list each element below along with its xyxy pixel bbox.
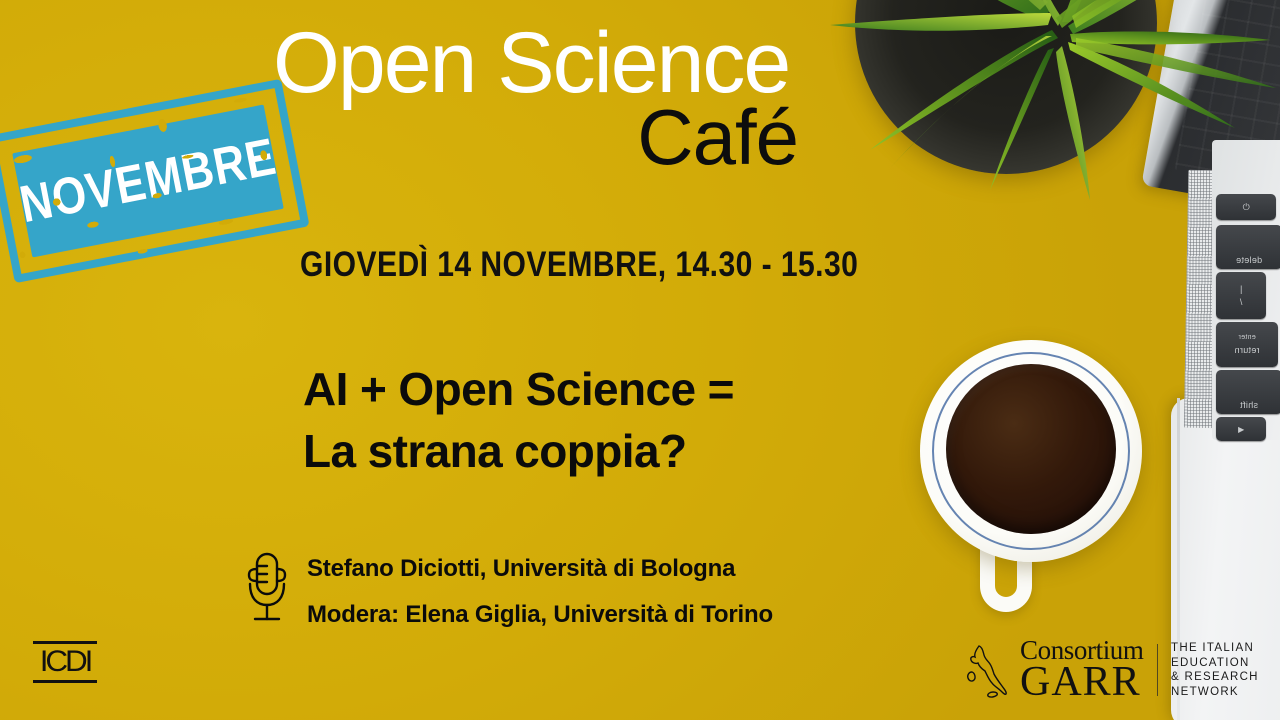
key-label: / [1240, 297, 1243, 307]
laptop-speaker-grille [1184, 170, 1222, 429]
event-headline: AI + Open Science = La strana coppia? [303, 358, 734, 482]
key-sublabel: enter [1238, 334, 1255, 341]
key-sublabel: | [1240, 284, 1243, 294]
laptop-key-shift: shift [1216, 370, 1280, 414]
speaker-list: Stefano Diciotti, Università di Bologna … [307, 546, 773, 637]
laptop-key-delete: delete [1216, 225, 1280, 269]
garr-tagline-line-2: EDUCATION [1171, 656, 1259, 671]
page-subtitle: Café [273, 98, 798, 176]
laptop-key-power: ⏻ [1216, 194, 1276, 220]
italy-map-icon [965, 642, 1011, 698]
mug-handle [980, 530, 1032, 612]
coffee-liquid [946, 364, 1116, 534]
stamp-label: NOVEMBRE [10, 83, 286, 278]
novembre-stamp: NOVEMBRE [0, 79, 310, 283]
poster-canvas: ⏻ delete | / enter return shift ◀ [0, 0, 1280, 720]
headline-line-1: AI + Open Science = [303, 358, 734, 420]
icdi-rule-bottom [33, 680, 97, 683]
coffee-mug [920, 340, 1142, 562]
garr-tagline-line-3: & RESEARCH [1171, 670, 1259, 685]
laptop-key-arrow: ◀ [1216, 417, 1266, 441]
garr-name-text: GARR [1020, 661, 1144, 703]
laptop-key-return: enter return [1216, 322, 1278, 367]
key-label: ⏻ [1242, 202, 1249, 213]
garr-logo: Consortium GARR THE ITALIAN EDUCATION & … [965, 637, 1259, 703]
mug-rim [932, 352, 1130, 550]
laptop-screen [1141, 0, 1280, 230]
icdi-logo: ICDI [33, 641, 97, 683]
microphone-icon [244, 551, 290, 625]
garr-divider [1157, 644, 1159, 696]
garr-tagline-line-4: NETWORK [1171, 685, 1259, 700]
icdi-wordmark: ICDI [31, 644, 98, 680]
key-label: delete [1236, 255, 1262, 265]
key-label: shift [1240, 400, 1258, 410]
garr-wordmark: Consortium GARR [1020, 637, 1144, 703]
speaker-line-1: Stefano Diciotti, Università di Bologna [307, 546, 773, 592]
key-label: ◀ [1238, 425, 1244, 434]
plant-pot [855, 0, 1157, 174]
speaker-line-2: Modera: Elena Giglia, Università di Tori… [307, 592, 773, 638]
laptop-keyboard-deck [1212, 140, 1280, 440]
garr-tagline-line-1: THE ITALIAN [1171, 641, 1259, 656]
laptop-key-backslash: | / [1216, 272, 1266, 319]
headline-line-2: La strana coppia? [303, 420, 734, 482]
garr-tagline: THE ITALIAN EDUCATION & RESEARCH NETWORK [1171, 641, 1259, 699]
key-label: return [1234, 345, 1259, 355]
plant-leaves-icon [790, 0, 1280, 270]
event-date-time: GIOVEDÌ 14 NOVEMBRE, 14.30 - 15.30 [300, 245, 858, 285]
